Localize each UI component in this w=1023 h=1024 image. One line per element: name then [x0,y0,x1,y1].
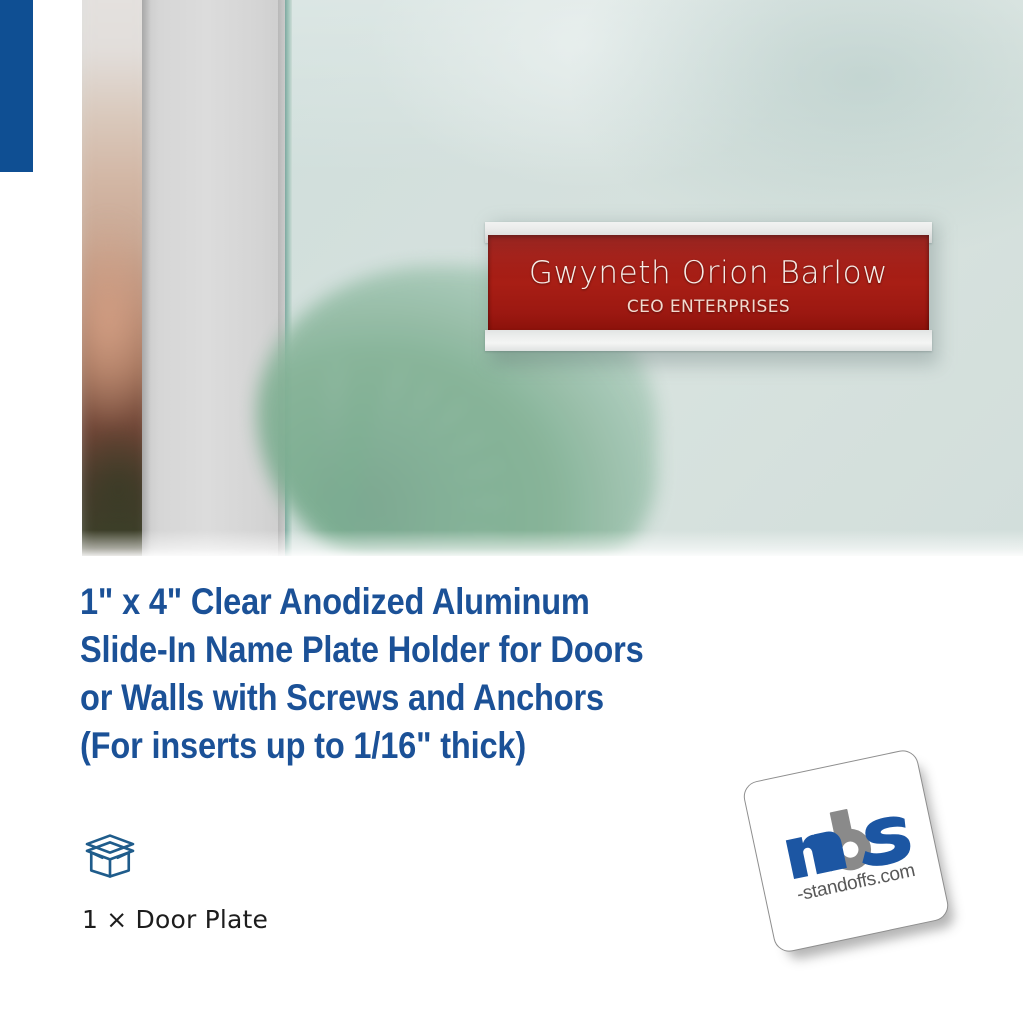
product-title-line-1: 1" x 4" Clear Anodized Aluminum [80,578,766,626]
name-plate-bottom-rail [485,330,932,351]
product-title: 1" x 4" Clear Anodized Aluminum Slide-In… [80,578,860,770]
photo-bottom-fade [82,530,1023,556]
contents-label: 1 × Door Plate [82,905,268,934]
brand-logo[interactable]: -standoffs.com [743,752,958,952]
product-marketing-card: Gwyneth Orion Barlow CEO ENTERPRISES 1" … [0,0,1023,1024]
hero-product-photo: Gwyneth Orion Barlow CEO ENTERPRISES [82,0,1023,556]
name-plate-subtitle-text: CEO ENTERPRISES [488,297,929,317]
open-box-icon [82,833,138,879]
product-title-line-3: or Walls with Screws and Anchors [80,674,766,722]
door-jamb-shadow [142,0,151,556]
product-title-line-2: Slide-In Name Plate Holder for Doors [80,626,766,674]
name-plate-name-text: Gwyneth Orion Barlow [488,255,929,291]
door-jamb [142,0,286,556]
logo-content: -standoffs.com [743,747,955,953]
product-title-line-4: (For inserts up to 1/16" thick) [80,722,766,770]
background-wall-highlight [82,0,148,556]
name-plate-insert: Gwyneth Orion Barlow CEO ENTERPRISES [488,235,929,335]
brand-accent-bar [0,0,33,172]
name-plate-holder: Gwyneth Orion Barlow CEO ENTERPRISES [485,214,932,355]
